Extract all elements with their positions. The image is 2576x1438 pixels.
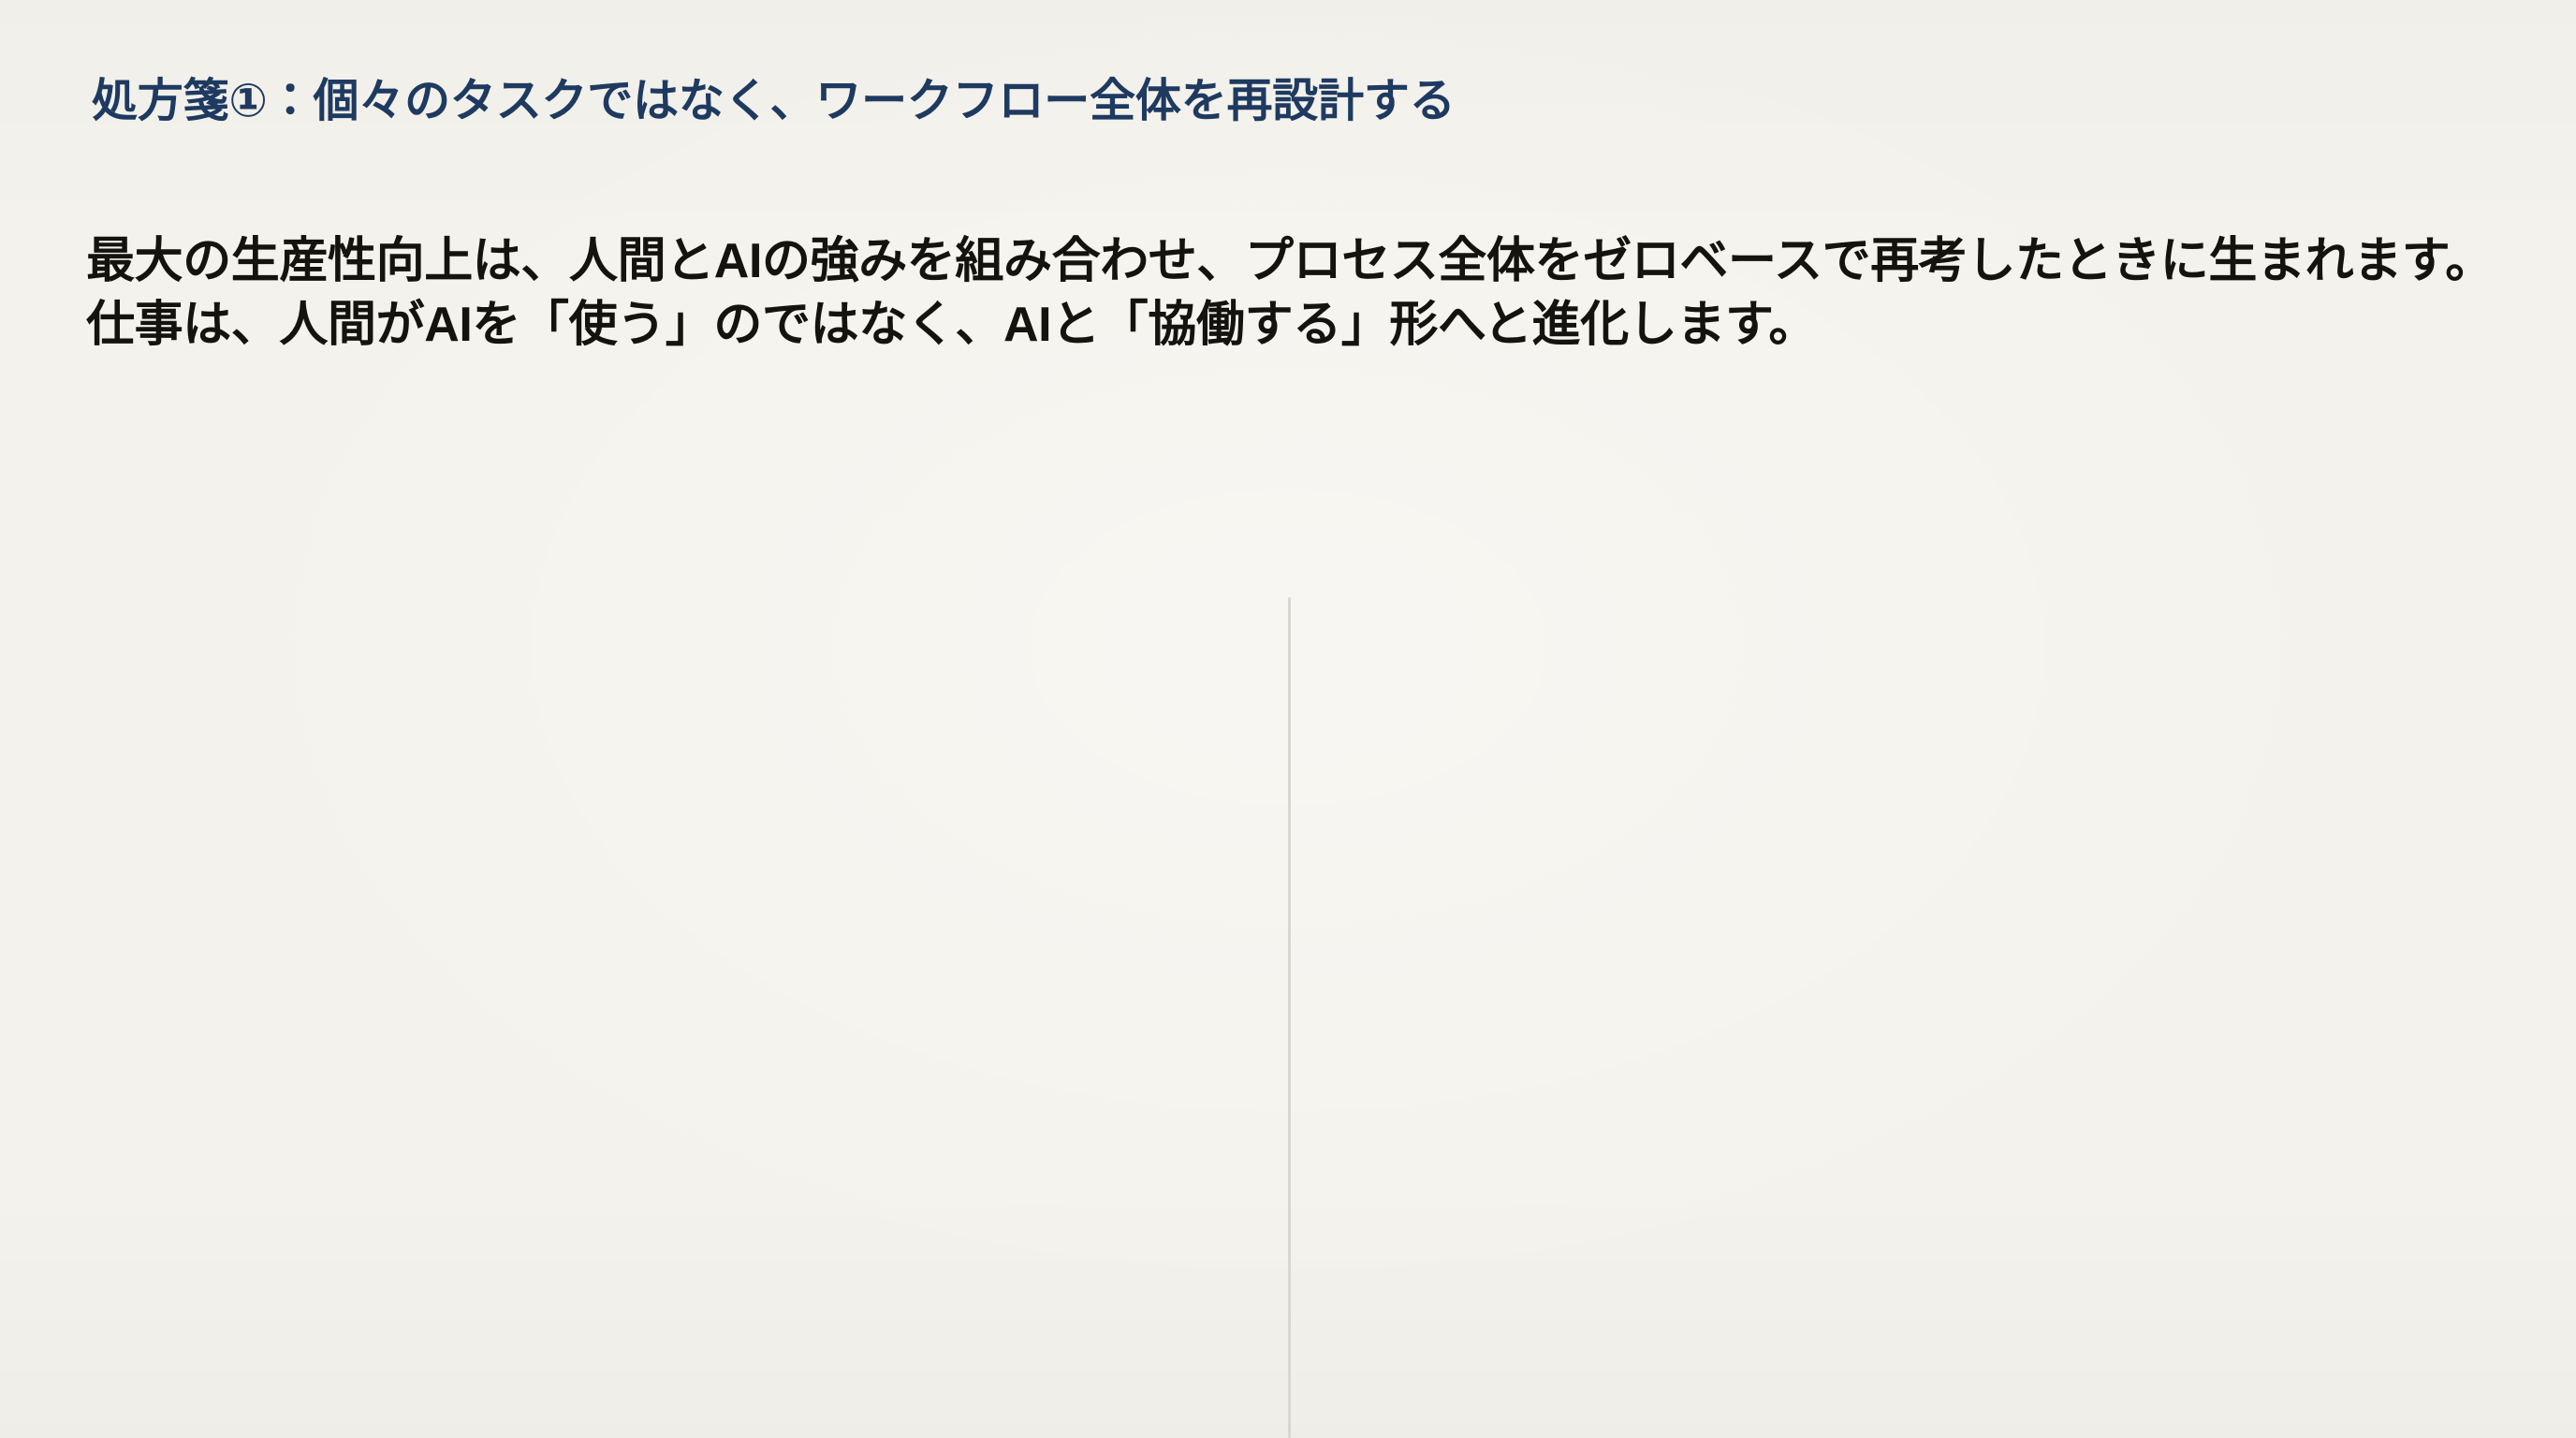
slide-canvas: 処方箋①：個々のタスクではなく、ワークフロー全体を再設計する 最大の生産性向上は… [0, 0, 2576, 1438]
column-divider [1288, 597, 1291, 1438]
body-paragraph: 最大の生産性向上は、人間とAIの強みを組み合わせ、プロセス全体をゼロベースで再考… [86, 230, 2501, 357]
page-title: 処方箋①：個々のタスクではなく、ワークフロー全体を再設計する [92, 64, 2576, 130]
